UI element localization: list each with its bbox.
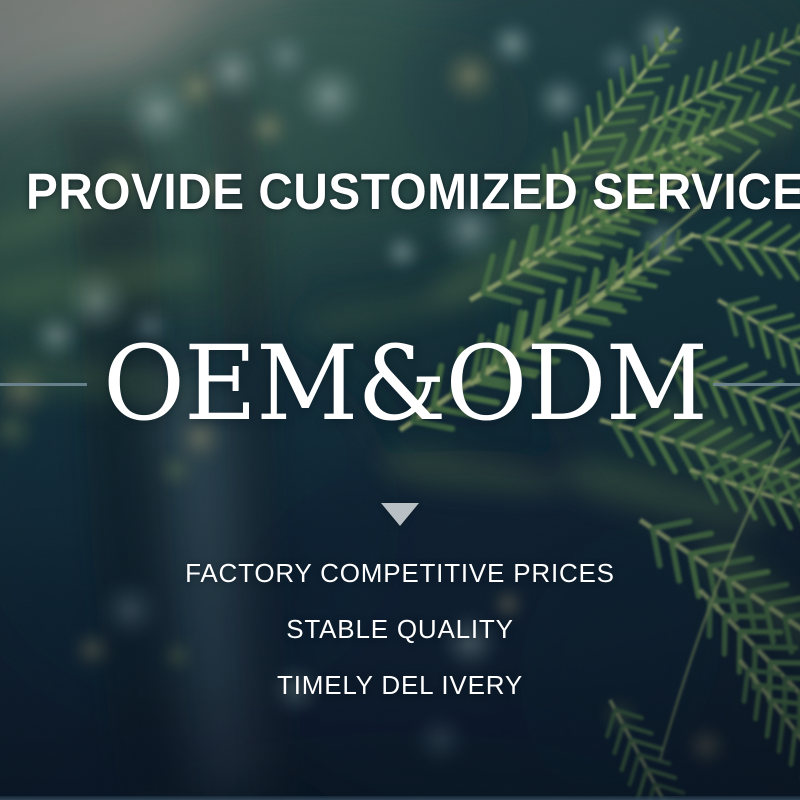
arrow-container — [0, 503, 800, 526]
divider-rule-left — [0, 383, 87, 386]
brand-title: OEM&ODM — [103, 333, 707, 436]
divider-rule-right — [713, 383, 800, 386]
feature-item-delivery: TIMELY DEL IVERY — [0, 672, 800, 698]
promo-banner: PROVIDE CUSTOMIZED SERVICE OEM&ODM FACTO… — [0, 0, 800, 800]
brand-line: OEM&ODM — [0, 338, 800, 430]
triangle-down-icon — [381, 503, 419, 526]
feature-item-quality: STABLE QUALITY — [0, 616, 800, 642]
feature-item-price: FACTORY COMPETITIVE PRICES — [0, 560, 800, 586]
feature-list: FACTORY COMPETITIVE PRICES STABLE QUALIT… — [0, 560, 800, 698]
page-title: PROVIDE CUSTOMIZED SERVICE — [26, 166, 774, 217]
